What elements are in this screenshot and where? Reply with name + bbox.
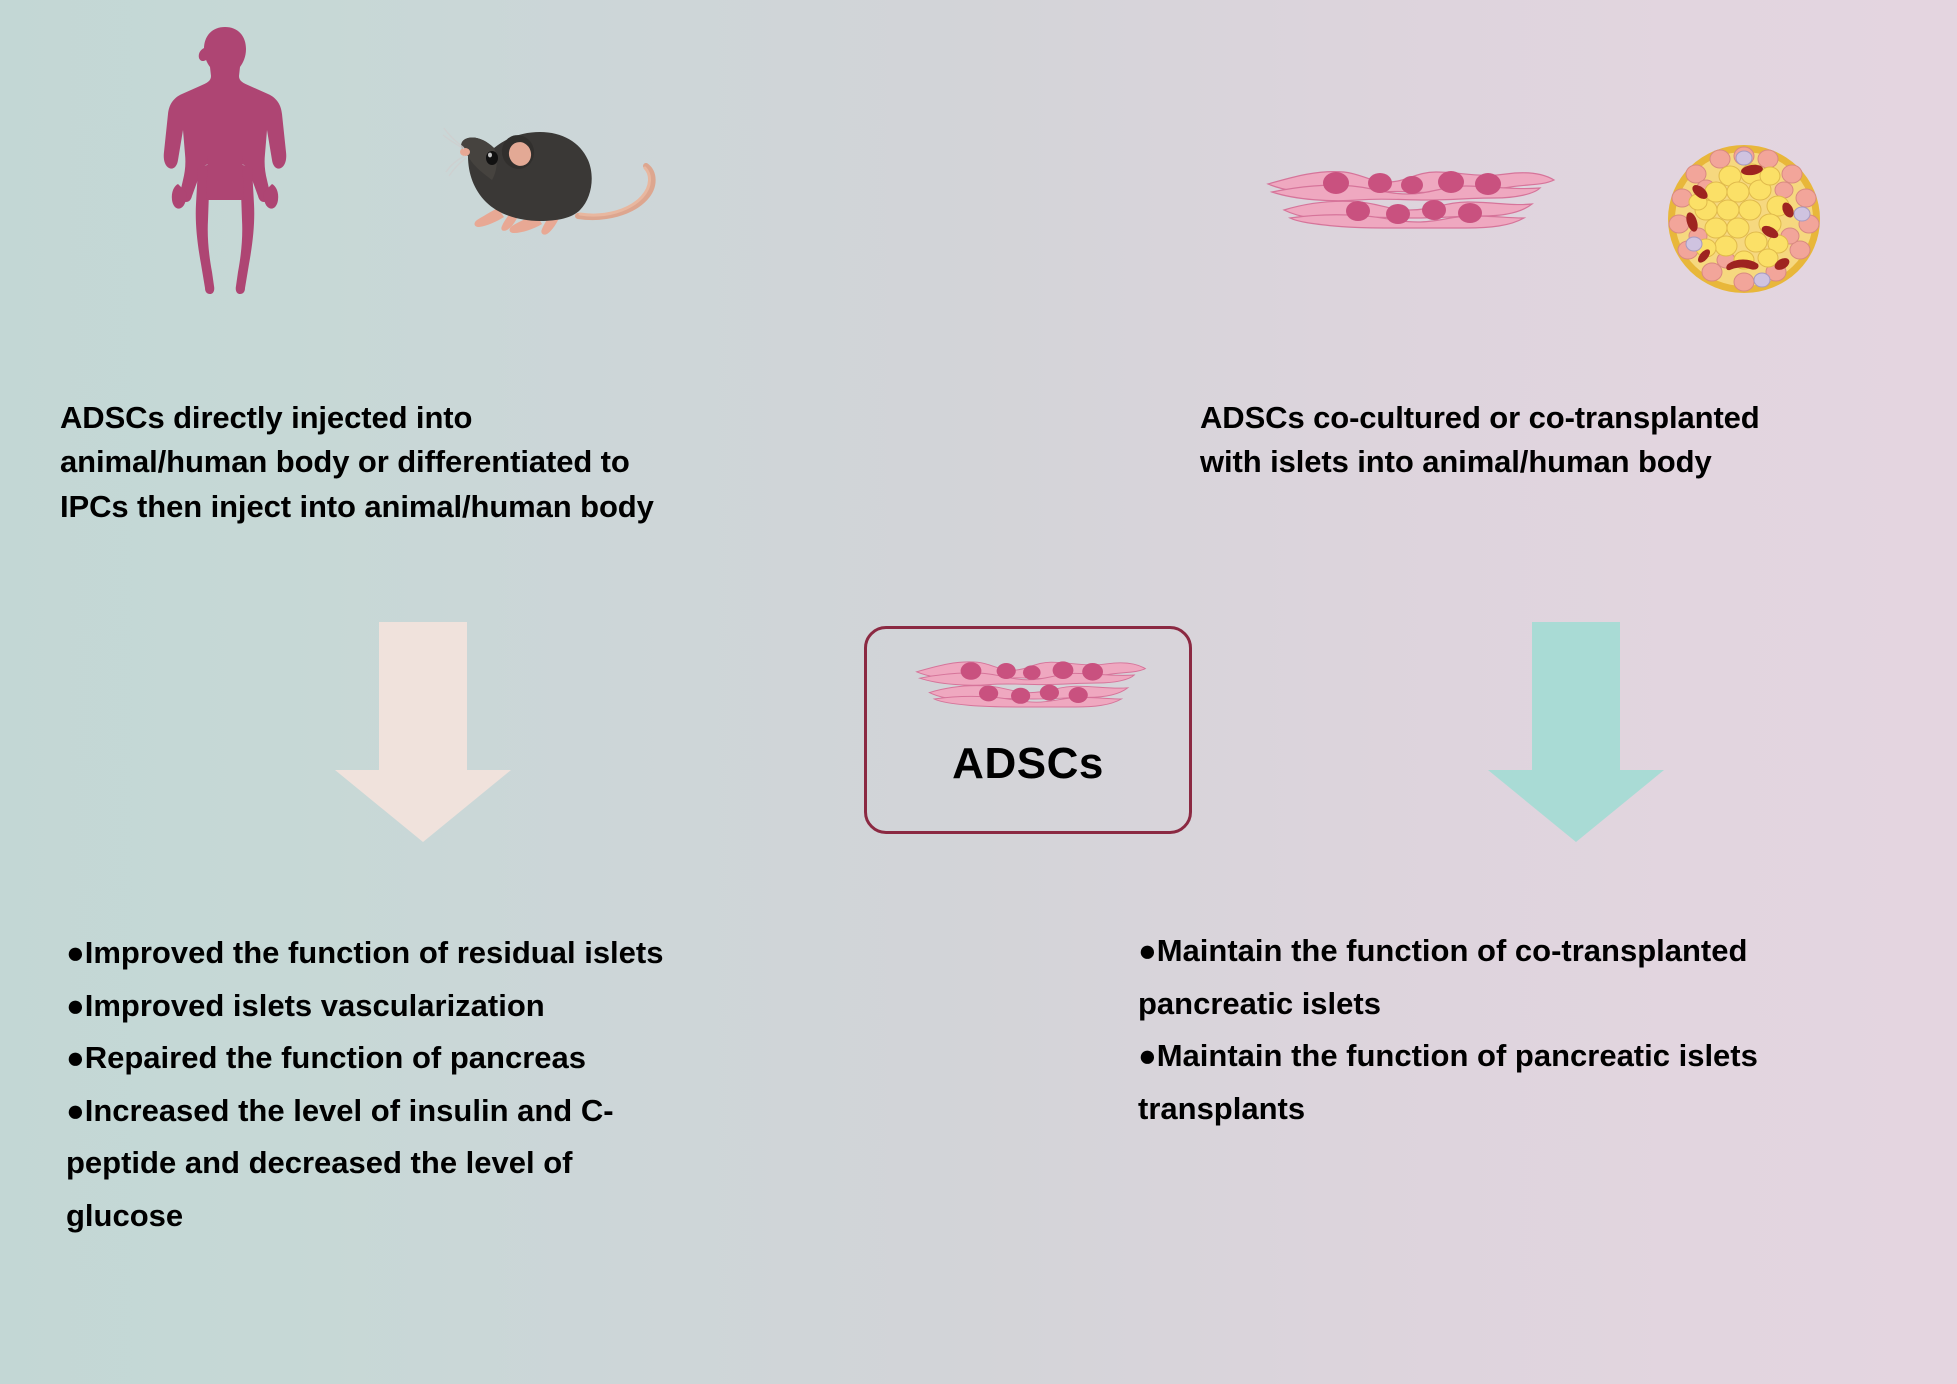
list-item: glucose — [66, 1193, 766, 1240]
right-panel-caption: ADSCs co-cultured or co-transplanted wit… — [1200, 398, 1940, 487]
adsc-center-box: ADSCs — [864, 626, 1192, 834]
list-item: ●Improved islets vascularization — [66, 983, 766, 1030]
adsc-box-label: ADSCs — [867, 739, 1189, 789]
left-caption-line-2: animal/human body or differentiated to — [60, 442, 700, 482]
list-item: peptide and decreased the level of — [66, 1140, 766, 1187]
diagram-canvas: ADSCs directly injected into animal/huma… — [0, 0, 1957, 1384]
left-panel-caption: ADSCs directly injected into animal/huma… — [60, 398, 700, 531]
list-item: ●Maintain the function of co-transplante… — [1138, 928, 1928, 975]
right-down-arrow-icon — [1488, 622, 1664, 842]
adsc-spindle-cell-cluster-icon — [1266, 148, 1556, 248]
left-caption-line-1: ADSCs directly injected into — [60, 398, 700, 438]
left-caption-line-3: IPCs then inject into animal/human body — [60, 487, 700, 527]
right-caption-line-2: with islets into animal/human body — [1200, 442, 1940, 482]
list-item: ●Increased the level of insulin and C- — [66, 1088, 766, 1135]
left-panel-outcomes: ●Improved the function of residual islet… — [66, 930, 766, 1245]
left-down-arrow-icon — [335, 622, 511, 842]
laboratory-mouse-icon — [440, 108, 680, 258]
right-caption-line-1: ADSCs co-cultured or co-transplanted — [1200, 398, 1940, 438]
adsc-spindle-cell-cluster-icon — [881, 643, 1181, 723]
list-item: pancreatic islets — [1138, 981, 1928, 1028]
list-item: ●Maintain the function of pancreatic isl… — [1138, 1033, 1928, 1080]
list-item: ●Repaired the function of pancreas — [66, 1035, 766, 1082]
list-item: ●Improved the function of residual islet… — [66, 930, 766, 977]
right-panel-outcomes: ●Maintain the function of co-transplante… — [1138, 928, 1928, 1138]
human-body-silhouette-icon — [150, 24, 300, 294]
list-item: transplants — [1138, 1086, 1928, 1133]
pancreatic-islet-icon — [1664, 140, 1824, 298]
